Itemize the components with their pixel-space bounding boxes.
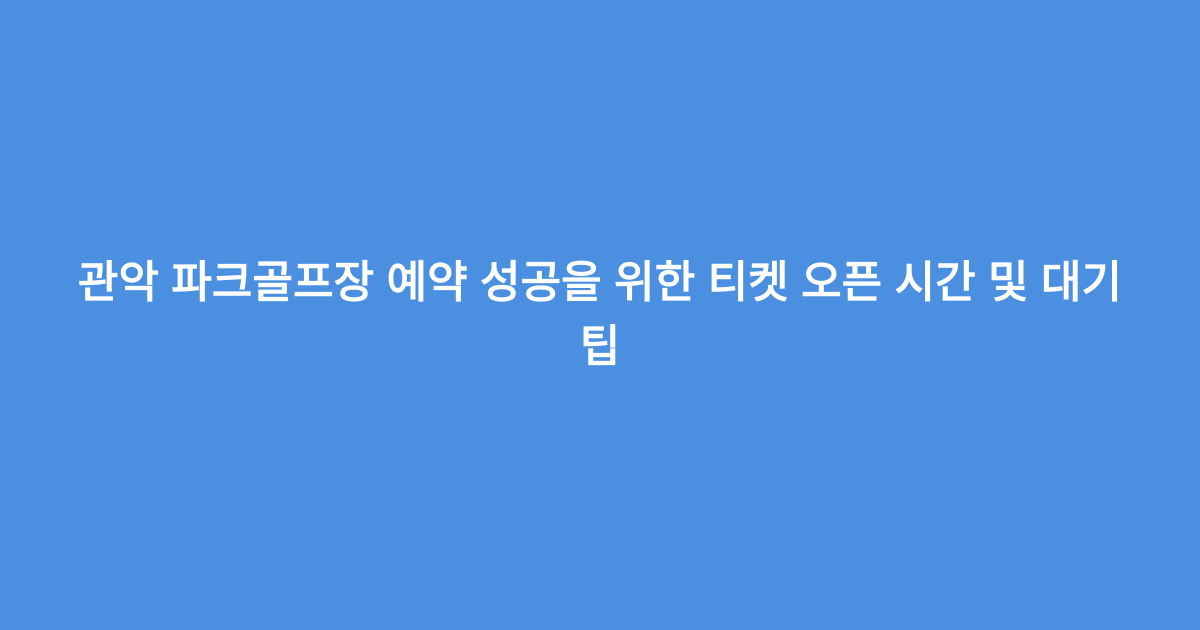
headline-block: 관악 파크골프장 예약 성공을 위한 티켓 오픈 시간 및 대기 팁	[60, 251, 1140, 379]
page-title: 관악 파크골프장 예약 성공을 위한 티켓 오픈 시간 및 대기 팁	[60, 251, 1140, 379]
banner-card: 관악 파크골프장 예약 성공을 위한 티켓 오픈 시간 및 대기 팁	[0, 0, 1200, 630]
